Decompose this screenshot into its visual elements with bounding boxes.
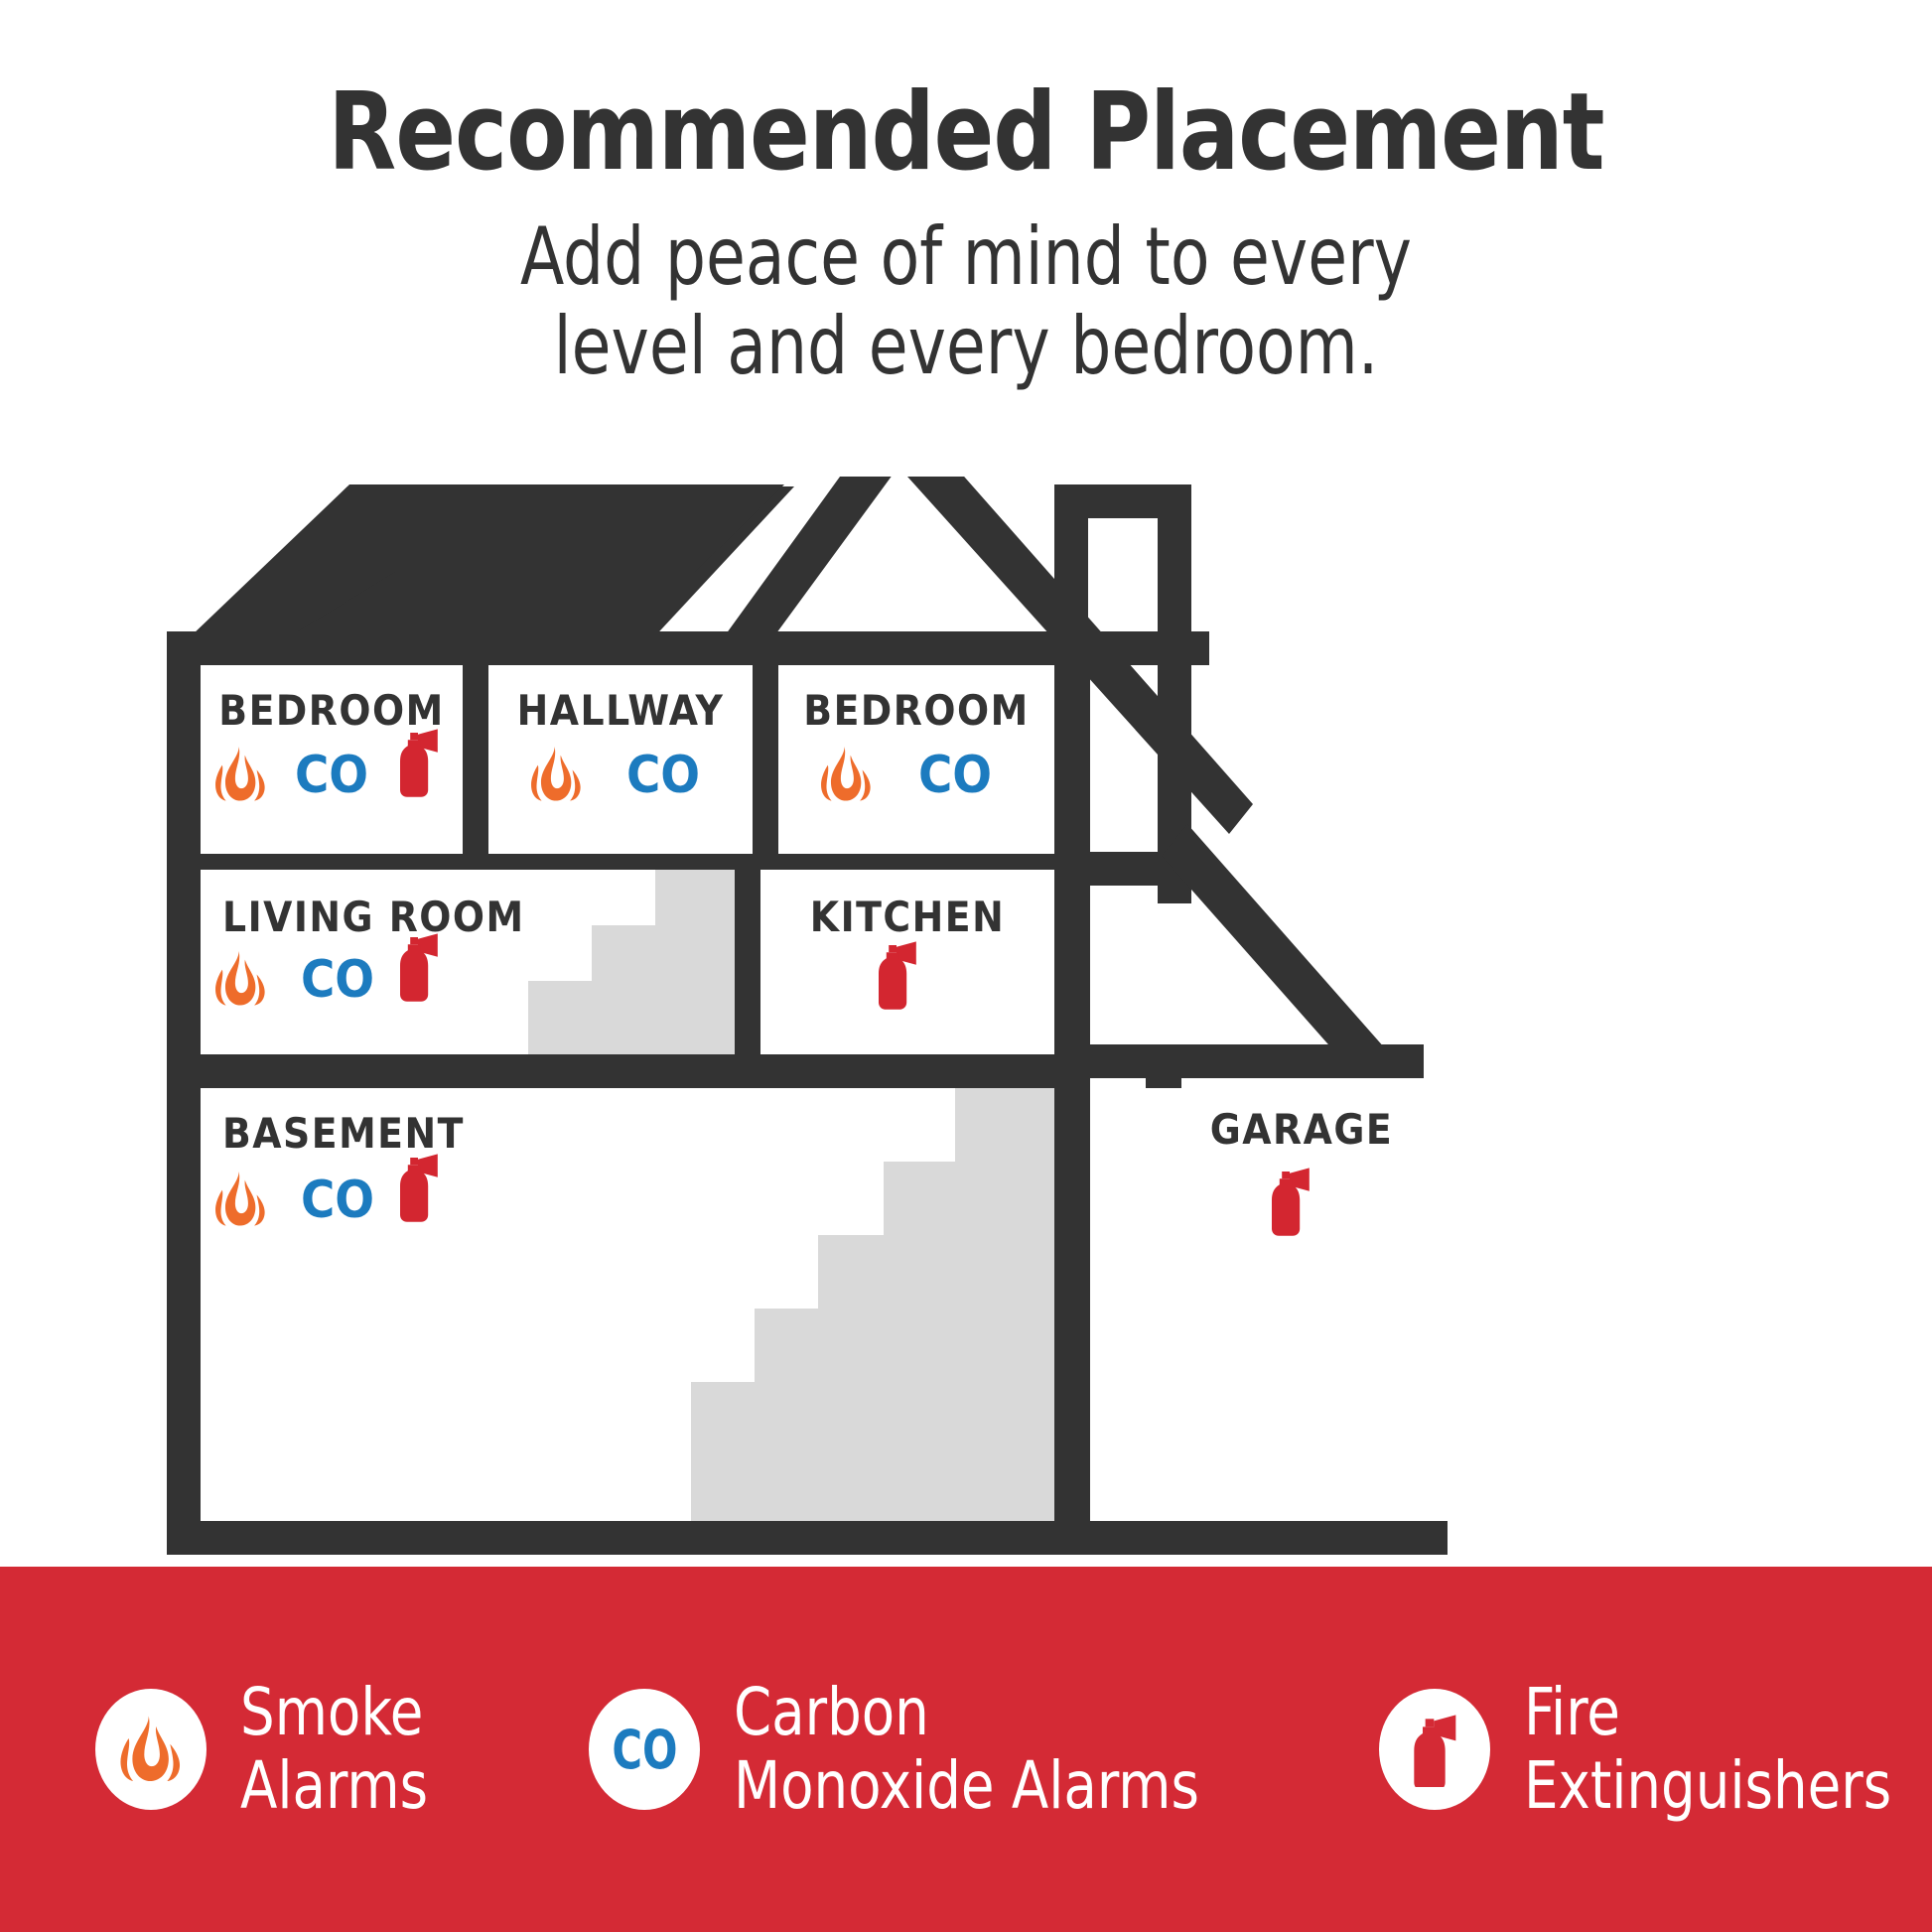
house-diagram: BEDROOM CO HALLWAY CO BEDROOM bbox=[0, 477, 1932, 1579]
room-basement[interactable]: BASEMENT CO bbox=[201, 1088, 1054, 1521]
fire-extinguisher-icon bbox=[1407, 1712, 1462, 1787]
room-label: BEDROOM bbox=[803, 686, 1029, 735]
legend-label-fire-extinguisher: FireExtinguishers bbox=[1524, 1676, 1891, 1823]
wall-interior-c bbox=[1054, 653, 1090, 1090]
legend-badge-co: CO bbox=[589, 1689, 700, 1810]
legend-badge-smoke bbox=[95, 1689, 207, 1810]
room-label: KITCHEN bbox=[810, 893, 1005, 941]
legend-label-line2: Extinguishers bbox=[1524, 1747, 1891, 1824]
header: Recommended Placement Add peace of mind … bbox=[0, 0, 1932, 390]
room-hallway[interactable]: HALLWAY CO bbox=[488, 665, 753, 854]
legend-label-smoke: SmokeAlarms bbox=[240, 1676, 428, 1823]
ceiling-beam-top bbox=[167, 631, 1209, 665]
room-label: BEDROOM bbox=[218, 686, 444, 735]
room-living-room[interactable]: LIVING ROOM CO bbox=[201, 870, 735, 1054]
page-subtitle-line1: Add peace of mind to every bbox=[96, 212, 1835, 302]
room-bedroom-left[interactable]: BEDROOM CO bbox=[201, 665, 463, 854]
infographic-page: Recommended Placement Add peace of mind … bbox=[0, 0, 1932, 1932]
legend-badge-fire-extinguisher bbox=[1379, 1689, 1490, 1810]
co-icon: CO bbox=[301, 1171, 374, 1230]
right-open-shaft bbox=[1090, 1078, 1146, 1521]
room-label: GARAGE bbox=[1210, 1105, 1393, 1154]
legend-item-smoke[interactable]: SmokeAlarms bbox=[95, 1676, 589, 1823]
legend-label-line1: Carbon bbox=[734, 1674, 929, 1750]
wall-left bbox=[167, 631, 201, 1555]
floor-first bbox=[167, 1054, 1209, 1088]
legend-label-line2: Monoxide Alarms bbox=[734, 1747, 1199, 1824]
wall-interior-d bbox=[735, 870, 760, 1068]
legend-item-fire-extinguisher[interactable]: FireExtinguishers bbox=[1379, 1676, 1932, 1823]
room-kitchen[interactable]: KITCHEN bbox=[760, 870, 1054, 1054]
wall-interior-a bbox=[463, 653, 488, 864]
room-label: LIVING ROOM bbox=[222, 893, 525, 941]
co-icon: CO bbox=[301, 950, 374, 1010]
floor-bottom bbox=[167, 1521, 1448, 1555]
room-bedroom-right[interactable]: BEDROOM CO bbox=[778, 665, 1054, 854]
legend-item-carbon-monoxide[interactable]: CO CarbonMonoxide Alarms bbox=[589, 1676, 1379, 1823]
room-garage[interactable]: GARAGE bbox=[1181, 1078, 1422, 1521]
floor-garage-top bbox=[1088, 1044, 1424, 1078]
legend-label-line2: Alarms bbox=[240, 1747, 428, 1824]
co-icon: CO bbox=[918, 746, 992, 805]
room-label: BASEMENT bbox=[222, 1109, 465, 1158]
legend-items: SmokeAlarms CO CarbonMonoxide Alarms bbox=[0, 1676, 1932, 1823]
co-icon: CO bbox=[295, 746, 368, 805]
legend-label-line1: Fire bbox=[1524, 1674, 1620, 1750]
page-subtitle: Add peace of mind to every level and eve… bbox=[96, 212, 1835, 390]
legend-label-line1: Smoke bbox=[240, 1674, 423, 1750]
co-icon: CO bbox=[626, 746, 700, 805]
wall-interior-b bbox=[753, 653, 778, 864]
legend-label-co: CarbonMonoxide Alarms bbox=[734, 1676, 1199, 1823]
co-icon: CO bbox=[612, 1719, 677, 1781]
page-title: Recommended Placement bbox=[77, 79, 1855, 187]
wall-right-lower bbox=[1054, 1044, 1090, 1555]
page-subtitle-line2: level and every bedroom. bbox=[96, 302, 1835, 391]
room-label: HALLWAY bbox=[517, 686, 725, 735]
smoke-icon bbox=[116, 1708, 186, 1791]
legend-bar: SmokeAlarms CO CarbonMonoxide Alarms bbox=[0, 1567, 1932, 1932]
